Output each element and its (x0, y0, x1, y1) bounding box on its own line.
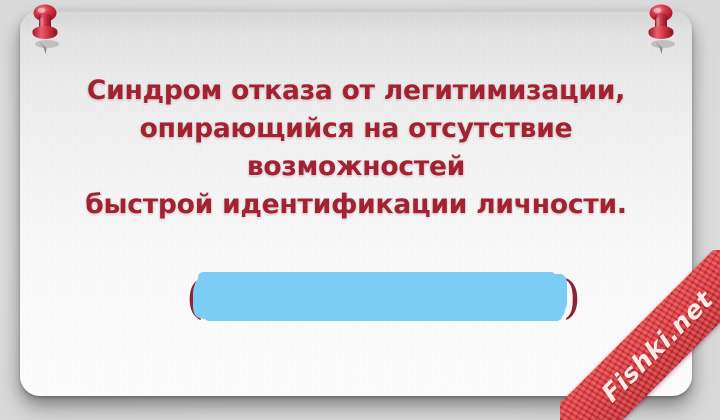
pushpin-right-icon (638, 2, 686, 58)
image-canvas: Синдром отказа от легитимизации, опирающ… (0, 0, 720, 420)
redaction-marker-bar (194, 276, 566, 317)
quote-line-4: быстрой идентификации личности. (20, 186, 692, 224)
quote-line-1: Синдром отказа от легитимизации, (20, 72, 692, 110)
card-top-edge (20, 10, 692, 13)
answer-row: ( ) (20, 268, 692, 328)
note-card: Синдром отказа от легитимизации, опирающ… (20, 10, 692, 396)
quote-text-block: Синдром отказа от легитимизации, опирающ… (20, 72, 692, 224)
quote-line-2: опирающийся на отсутствие (20, 110, 692, 148)
pushpin-left-icon (22, 2, 70, 58)
quote-line-3: возможностей (20, 148, 692, 186)
